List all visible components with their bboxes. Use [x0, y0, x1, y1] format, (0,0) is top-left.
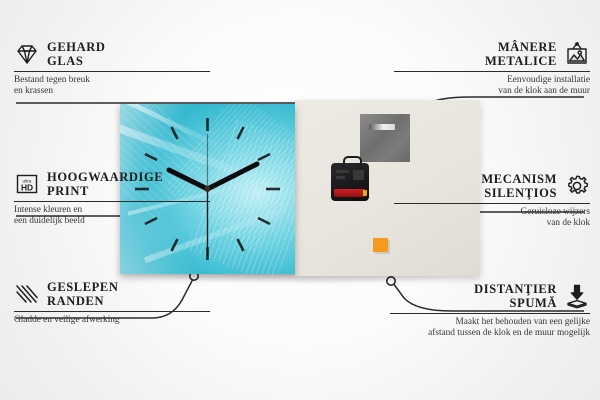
- mechanism-vent: [336, 170, 349, 173]
- feature-header: MÂNERE METALICE: [394, 40, 590, 68]
- minute-hand: [208, 164, 258, 189]
- underline-rule: [390, 313, 590, 314]
- mechanism-label: [353, 170, 364, 180]
- diamond-icon: [14, 41, 40, 67]
- infographic-canvas: GEHARD GLAS Bestand tegen breuk en krass…: [0, 0, 600, 400]
- underline-rule: [394, 71, 590, 72]
- underline-rule: [394, 203, 590, 204]
- feature-hoogwaardige-print[interactable]: ultra HD HOOGWAARDIGE PRINT Intense kleu…: [14, 170, 210, 228]
- gear-icon: [564, 173, 590, 199]
- press-down-arrow-icon: [564, 283, 590, 309]
- feature-title: DISTANŢIER SPUMĂ: [474, 282, 557, 310]
- feature-gehard-glas[interactable]: GEHARD GLAS Bestand tegen breuk en krass…: [14, 40, 210, 98]
- feature-header: MECANISM SILENŢIOS: [394, 172, 590, 200]
- underline-rule: [14, 71, 210, 72]
- feature-description: Geruisloze wijzers van de klok: [394, 207, 590, 230]
- feature-distantier-spuma[interactable]: DISTANŢIER SPUMĂ Maakt het behouden van …: [390, 282, 590, 340]
- beveled-edges-icon: [14, 281, 40, 307]
- feature-geslepen-randen[interactable]: GESLEPEN RANDEN Gladde en veilige afwerk…: [14, 280, 210, 326]
- feature-mecanism-silentios[interactable]: MECANISM SILENŢIOS Geruisloze wijzers va…: [394, 172, 590, 230]
- ultra-hd-icon: ultra HD: [14, 171, 40, 197]
- mechanism-vent: [336, 176, 345, 179]
- underline-rule: [14, 201, 210, 202]
- feature-title: GESLEPEN RANDEN: [47, 280, 119, 308]
- feature-title: GEHARD GLAS: [47, 40, 105, 68]
- feature-header: GESLEPEN RANDEN: [14, 280, 210, 308]
- feature-title: MECANISM SILENŢIOS: [481, 172, 557, 200]
- picture-hanger-icon: [564, 41, 590, 67]
- metal-hanger-plate: [360, 114, 410, 162]
- feature-header: GEHARD GLAS: [14, 40, 210, 68]
- orange-foam-spacer: [373, 238, 388, 252]
- feature-description: Eenvoudige installatie van de klok aan d…: [394, 75, 590, 98]
- aa-battery: [334, 189, 365, 197]
- feature-manere-metalice[interactable]: MÂNERE METALICE Eenvoudige installatie v…: [394, 40, 590, 98]
- feature-description: Intense kleuren en een duidelijk beeld: [14, 205, 210, 228]
- feature-header: DISTANŢIER SPUMĂ: [390, 282, 590, 310]
- underline-rule: [14, 311, 210, 312]
- svg-text:HD: HD: [21, 182, 33, 192]
- hanger-loop: [343, 156, 362, 167]
- feature-title: MÂNERE METALICE: [485, 40, 557, 68]
- hanger-slot: [369, 124, 395, 130]
- feature-header: ultra HD HOOGWAARDIGE PRINT: [14, 170, 210, 198]
- feature-title: HOOGWAARDIGE PRINT: [47, 170, 163, 198]
- clock-mechanism: [331, 163, 369, 201]
- feature-description: Gladde en veilige afwerking: [14, 315, 210, 326]
- feature-description: Maakt het behouden van een gelijke afsta…: [390, 317, 590, 340]
- feature-description: Bestand tegen breuk en krassen: [14, 75, 210, 98]
